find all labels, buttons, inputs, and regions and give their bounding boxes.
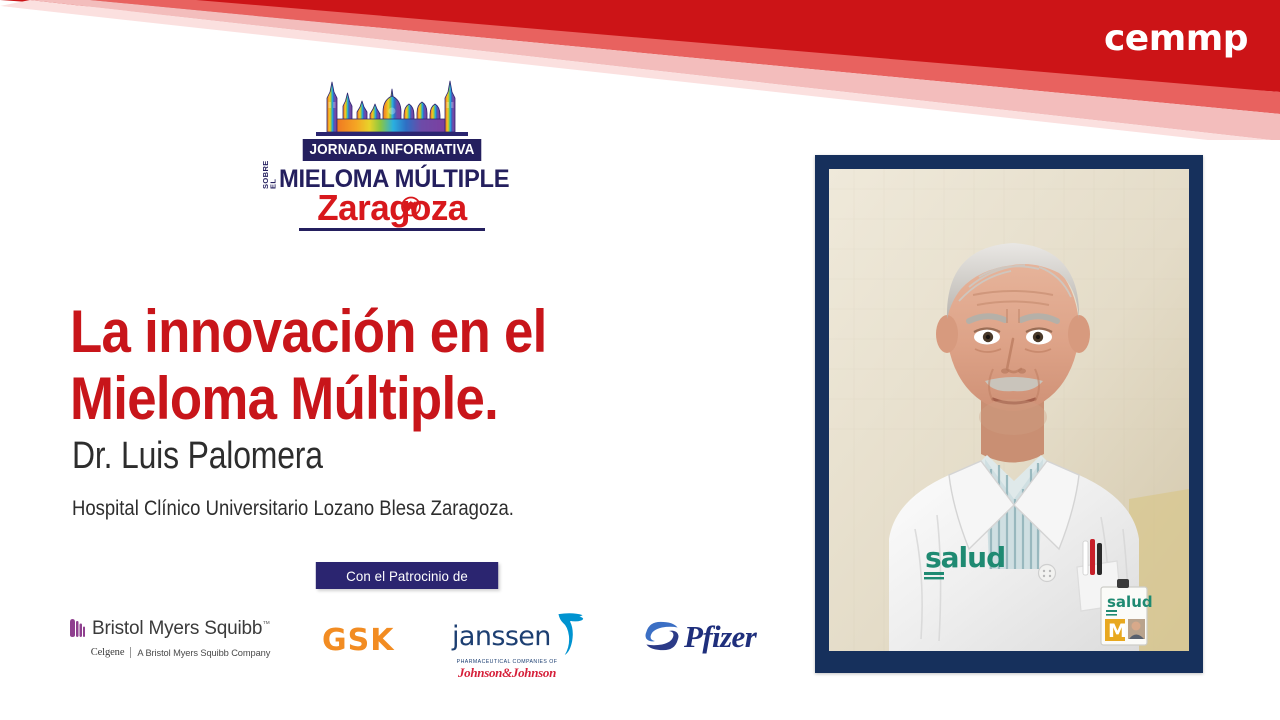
diagonal-bands-svg (0, 0, 1280, 140)
svg-text:M: M (1108, 620, 1127, 642)
sponsor-logo-gsk: GSK (322, 626, 394, 656)
janssen-wordmark: janssen (452, 623, 551, 650)
bms-name-text: Bristol Myers Squibb (92, 618, 262, 639)
svg-text:salud: salud (1107, 593, 1153, 611)
pfizer-ribbon-mark-icon (642, 619, 682, 653)
bms-divider (130, 647, 131, 658)
janssen-figure-mark-icon (554, 612, 586, 656)
janssen-primary-row: janssen (452, 612, 597, 656)
bms-trademark: ™ (262, 619, 270, 628)
zaragoza-wordmark: Zaragoza (296, 190, 488, 226)
janssen-johnson-and-johnson-label: Johnson&Johnson (452, 666, 562, 679)
bms-company-label: A Bristol Myers Squibb Company (137, 648, 270, 658)
sponsorship-bar-label: Con el Patrocinio de (346, 568, 468, 584)
speaker-portrait-image: salud salud M (829, 169, 1189, 651)
zaragoza-label: Zaragoza (317, 190, 466, 226)
sponsor-logo-pfizer: Pfizer (642, 619, 756, 653)
jornada-informativa-banner: JORNADA INFORMATIVA (303, 139, 482, 161)
title-line-2: Mieloma Múltiple. (70, 365, 616, 432)
header-decoration: cemmp (0, 0, 1280, 140)
bms-name: Bristol Myers Squibb™ (92, 619, 270, 638)
event-logo: JORNADA INFORMATIVA SOBRE EL MIELOMA MÚL… (296, 76, 488, 233)
bms-celgene-label: Celgene (91, 647, 125, 658)
title-line-1: La innovación en el (70, 298, 616, 365)
speaker-affiliation: Hospital Clínico Universitario Lozano Bl… (72, 498, 514, 520)
pfizer-wordmark: Pfizer (684, 621, 756, 652)
cemmp-brand-logo: cemmp (1104, 21, 1248, 57)
sponsor-logo-bristol-myers-squibb: Bristol Myers Squibb™ Celgene A Bristol … (68, 618, 293, 658)
basilica-del-pilar-silhouette-icon (306, 76, 478, 138)
sponsorship-bar: Con el Patrocinio de (316, 562, 498, 589)
sponsor-logo-janssen: janssen PHARMACEUTICAL COMPANIES OF John… (452, 612, 597, 679)
portrait-illustration: salud salud M (829, 169, 1189, 651)
page-title: La innovación en el Mieloma Múltiple. (70, 298, 616, 432)
bms-secondary-row: Celgene A Bristol Myers Squibb Company (68, 647, 293, 658)
sobre-el-label: SOBRE EL (262, 163, 277, 189)
sponsor-logos-row: Bristol Myers Squibb™ Celgene A Bristol … (0, 604, 790, 684)
bms-primary-row: Bristol Myers Squibb™ (68, 618, 293, 638)
speaker-name: Dr. Luis Palomera (72, 437, 323, 475)
svg-text:salud: salud (925, 541, 1005, 574)
bristol-myers-squibb-mark-icon (68, 618, 85, 638)
zaragoza-lion-emblem-icon (401, 196, 421, 217)
speaker-portrait-frame: salud salud M (815, 155, 1203, 673)
